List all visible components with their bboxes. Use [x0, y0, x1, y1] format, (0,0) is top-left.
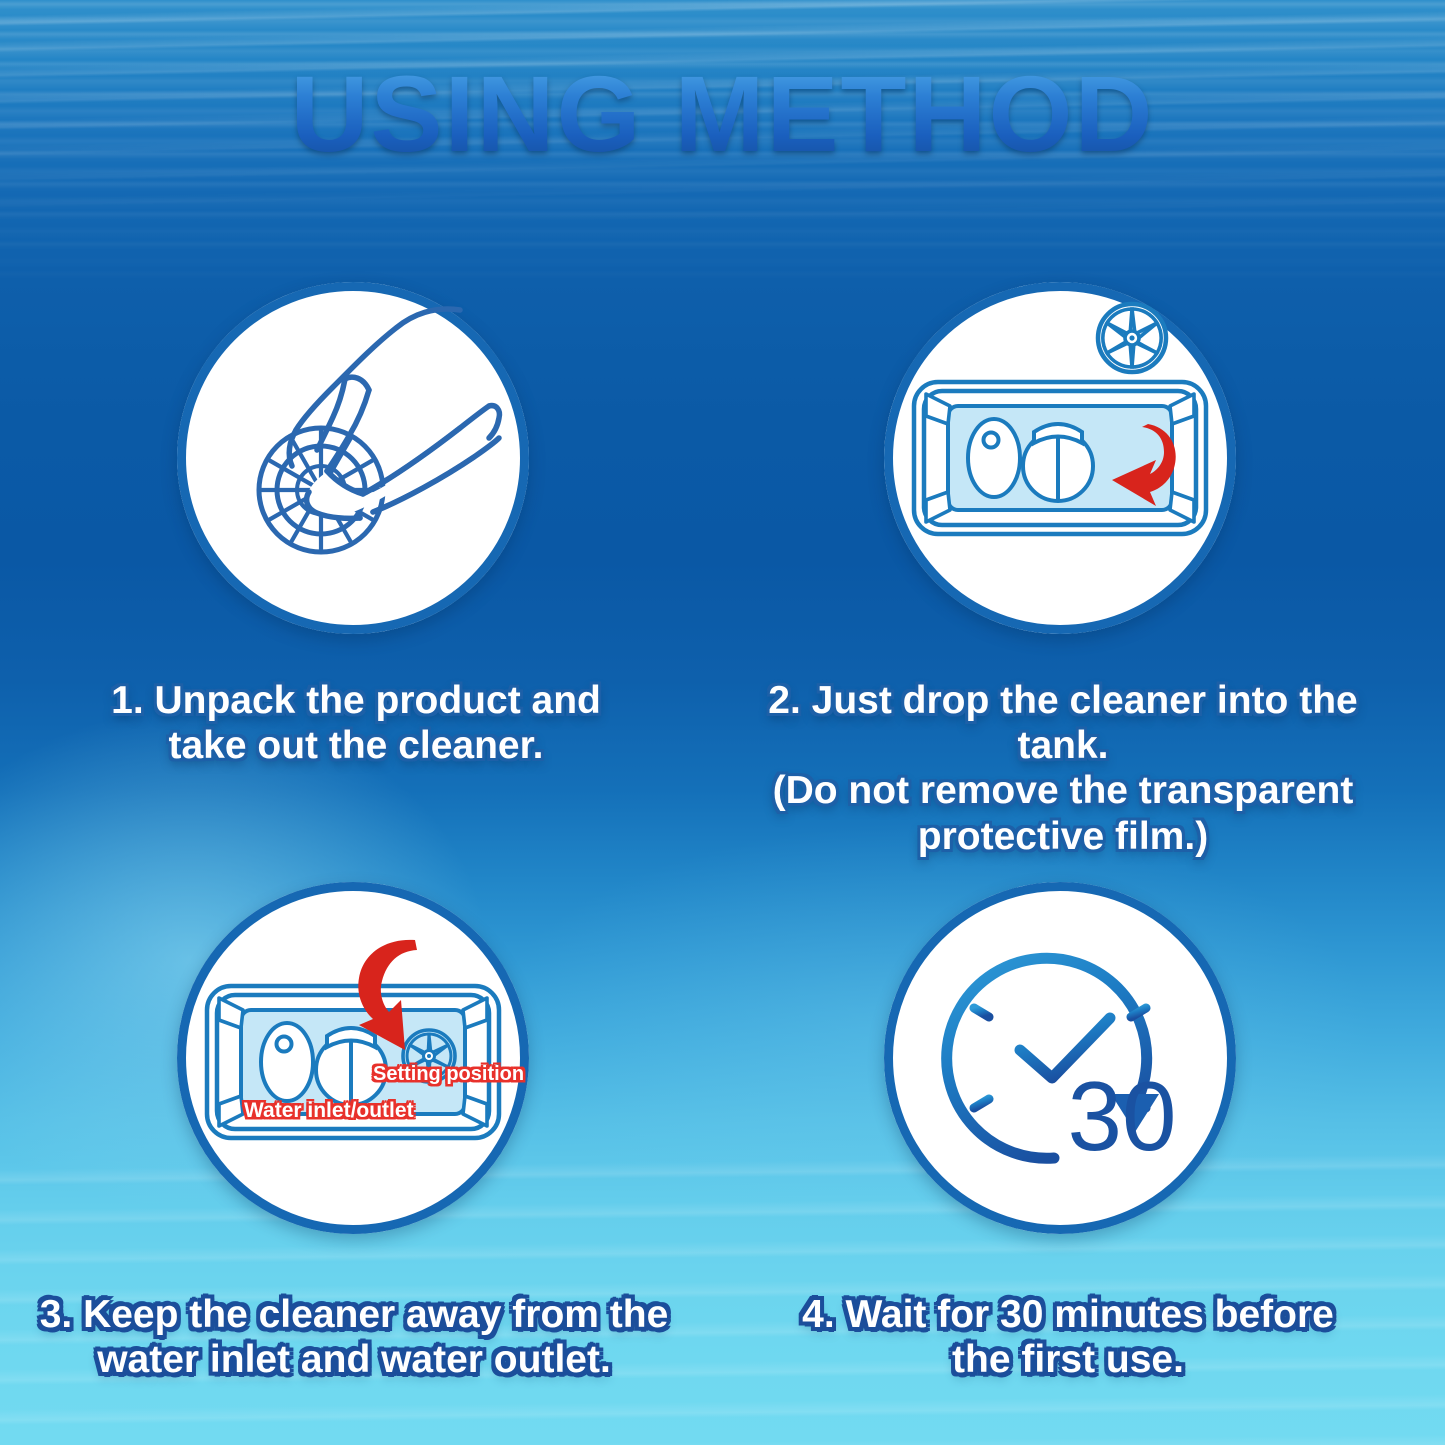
- step-1-caption-line-2: take out the cleaner.: [96, 723, 616, 768]
- infographic-canvas: USING METHOD USING METHOD: [0, 0, 1445, 1445]
- step-4-caption-line-1: 4. Wait for 30 minutes before: [768, 1292, 1368, 1337]
- step-3-caption: 3. Keep the cleaner away from the water …: [34, 1292, 674, 1382]
- tank-top-view-with-setting-position-icon: [177, 882, 529, 1234]
- water-inlet-outlet-label: Water inlet/outlet: [244, 1099, 414, 1123]
- clock-30-minutes-icon: 30: [884, 882, 1236, 1234]
- step-4-caption-line-2: the first use.: [768, 1337, 1368, 1382]
- clock-value-text: 30: [1067, 1061, 1176, 1171]
- step-4-illustration-circle: 30: [884, 882, 1236, 1234]
- page-title: USING METHOD USING METHOD: [0, 60, 1445, 168]
- step-3-caption-line-1: 3. Keep the cleaner away from the: [34, 1292, 674, 1337]
- page-title-text: USING METHOD: [290, 60, 1154, 168]
- step-3-caption-line-2: water inlet and water outlet.: [34, 1337, 674, 1382]
- step-2-caption-line-3: protective film.): [718, 814, 1408, 859]
- step-1-caption-line-1: 1. Unpack the product and: [96, 678, 616, 723]
- hand-holding-cleaner-ball-icon: [177, 282, 529, 634]
- step-2-illustration-circle: [884, 282, 1236, 634]
- step-1-caption: 1. Unpack the product and take out the c…: [96, 678, 616, 768]
- step-1-illustration-circle: [177, 282, 529, 634]
- tank-top-view-with-cleaner-drop-icon: [884, 282, 1236, 634]
- step-3-illustration-circle: Setting position Water inlet/outlet: [177, 882, 529, 1234]
- step-2-caption-line-1: 2. Just drop the cleaner into the tank.: [718, 678, 1408, 768]
- step-2-caption: 2. Just drop the cleaner into the tank. …: [718, 678, 1408, 859]
- step-2-caption-line-2: (Do not remove the transparent: [718, 768, 1408, 813]
- step-4-caption: 4. Wait for 30 minutes before the first …: [768, 1292, 1368, 1382]
- setting-position-label: Setting position: [373, 1063, 524, 1086]
